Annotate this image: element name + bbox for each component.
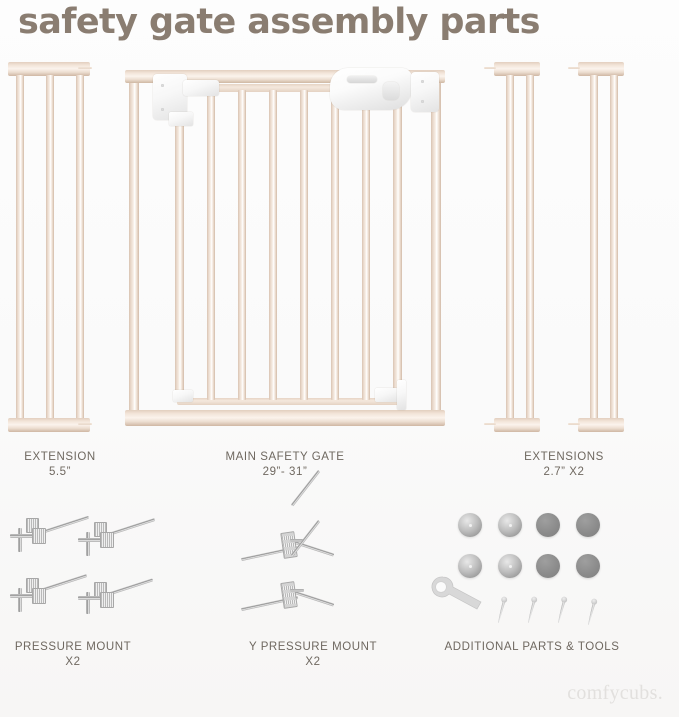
label-extensions-right-size: 2.7” X2 [474,465,654,480]
latch-handle-groove [347,76,377,83]
wall-cup [498,554,522,578]
part-extension-left [8,62,94,432]
part-extension-right-2 [568,62,624,432]
bottom-latch-pin [397,380,406,410]
latch-body [411,72,439,112]
bottom-bracket-left [173,390,193,402]
part-main-gate [125,62,445,432]
label-main-gate-name: MAIN SAFETY GATE [226,451,345,463]
part-additional-group [430,500,640,628]
wall-cup [458,513,482,537]
label-additional-parts: ADDITIONAL PARTS & TOOLS [412,640,652,655]
brand-name: comfycubs [567,682,657,704]
label-extension-left: EXTENSION 5.5” [0,450,120,480]
label-extension-left-size: 5.5” [0,465,120,480]
label-main-gate-size: 29”- 31” [185,465,385,480]
label-extensions-right: EXTENSIONS 2.7” X2 [474,450,654,480]
wall-pad [576,554,600,578]
product-diagram-canvas: safety gate assembly parts EXTENSION 5.5… [0,0,679,717]
brand-dot: . [658,682,663,704]
wall-pad [576,513,600,537]
wall-pad [536,513,560,537]
label-extensions-right-name: EXTENSIONS [524,451,604,463]
label-y-pressure-mount-name: Y PRESSURE MOUNT [249,641,377,653]
label-pressure-mount-size: X2 [0,655,146,670]
wall-pad [536,554,560,578]
brand-logo: comfycubs. [567,682,663,705]
part-pressure-mount-group [6,500,146,625]
part-extension-right-1 [484,62,540,432]
page-title: safety gate assembly parts [18,2,540,42]
latch-handle[interactable] [330,68,412,110]
label-additional-parts-name: ADDITIONAL PARTS & TOOLS [445,641,620,653]
label-main-gate: MAIN SAFETY GATE 29”- 31” [185,450,385,480]
bottom-bracket-right [375,388,399,402]
hinge-bracket-lower [169,112,193,126]
wall-cup [498,513,522,537]
hinge-bracket-arm [183,80,219,96]
part-y-pressure-mount-group [236,500,396,625]
label-pressure-mount: PRESSURE MOUNT X2 [0,640,146,670]
label-extension-left-name: EXTENSION [24,451,95,463]
wrench-icon [430,574,486,619]
latch-handle-slot [383,82,399,100]
label-y-pressure-mount-size: X2 [218,655,408,670]
label-pressure-mount-name: PRESSURE MOUNT [15,641,131,653]
label-y-pressure-mount: Y PRESSURE MOUNT X2 [218,640,408,670]
